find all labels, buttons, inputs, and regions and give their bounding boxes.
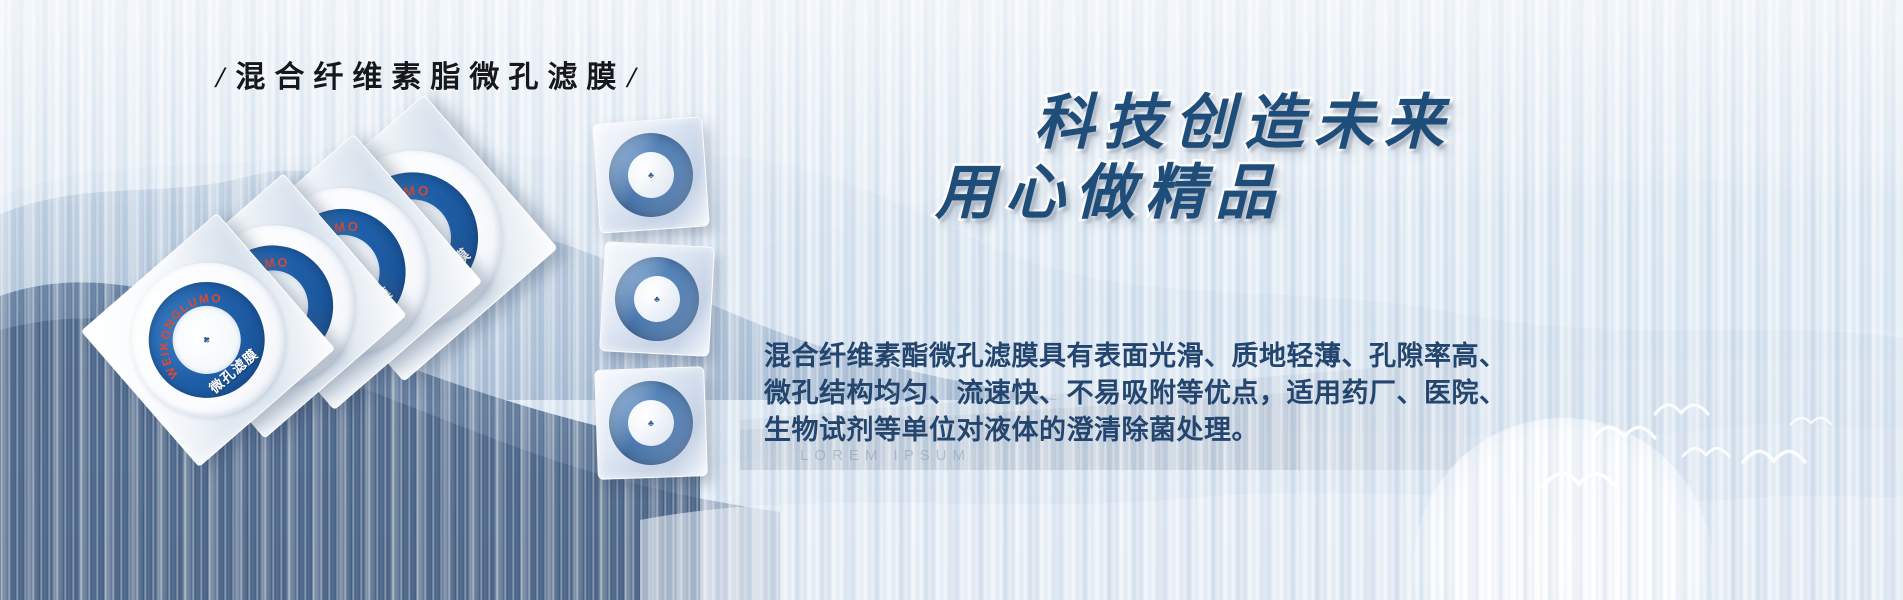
title-bar-left: / [214, 61, 235, 94]
description-line-2: 微孔结构均匀、流速快、不易吸附等优点，适用药厂、医院、 [764, 375, 1454, 412]
description-paragraph: 混合纤维素酯微孔滤膜具有表面光滑、质地轻薄、孔隙率高、 微孔结构均匀、流速快、不… [764, 338, 1454, 449]
mini-product-package: ♣ [594, 366, 708, 480]
title-bar-right: / [625, 61, 646, 94]
headline-block: 科技创造未来 用心做精品 [760, 86, 1460, 230]
mini-label-emblem-icon: ♣ [648, 170, 655, 180]
headline-line-1: 科技创造未来 [760, 86, 1460, 160]
mini-label-emblem-icon: ♣ [648, 418, 654, 428]
mini-label-inner-ring [626, 150, 675, 199]
flying-birds-decoration [1533, 390, 1863, 530]
watermark-text: LOREM IPSUM [800, 447, 971, 464]
mini-product-package: ♣ [592, 116, 709, 233]
mini-product-label [613, 255, 701, 343]
mini-label-inner-ring [627, 399, 675, 447]
headline-line-2: 用心做精品 [760, 156, 1460, 230]
mini-label-emblem-icon: ♣ [654, 294, 660, 304]
description-line-1: 混合纤维素酯微孔滤膜具有表面光滑、质地轻薄、孔隙率高、 [764, 338, 1454, 375]
product-package-stack: WEIKONGLUMO ♣ 微孔滤膜 WEIKONGLUMO ♣ [110, 130, 540, 430]
product-banner: /混合纤维素脂微孔滤膜/ WEIKONGLUMO ♣ 微孔滤膜 [0, 0, 1903, 600]
mini-product-label [606, 130, 696, 220]
mini-product-label [608, 380, 695, 467]
mini-label-inner-ring [633, 275, 681, 323]
description-line-3: 生物试剂等单位对液体的澄清除菌处理。 [764, 412, 1454, 449]
mini-package-column: ♣ ♣ ♣ [596, 120, 712, 492]
title-text: 混合纤维素脂微孔滤膜 [235, 61, 625, 94]
page-title: /混合纤维素脂微孔滤膜/ [214, 52, 647, 96]
mini-product-package: ♣ [599, 241, 715, 357]
